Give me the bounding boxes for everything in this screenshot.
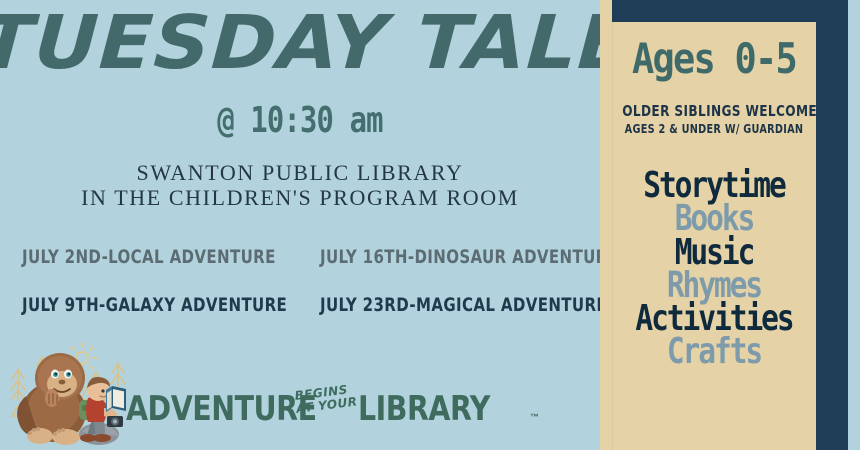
list-item: JULY 2ND-LOCAL ADVENTURE — [22, 248, 276, 267]
left-content-panel: TUESDAY TALES @ 10:30 am SWANTON PUBLIC … — [0, 0, 600, 450]
navy-top-bar — [612, 0, 848, 22]
event-time: @ 10:30 am — [60, 103, 540, 139]
ages-heading: Ages 0-5 — [624, 38, 804, 80]
right-edge-strip — [848, 0, 860, 450]
list-item: JULY 23RD-MAGICAL ADVENTURE — [320, 296, 607, 315]
bigfoot-reading-illustration — [4, 338, 144, 450]
list-item: Crafts — [630, 334, 797, 369]
schedule-list: JULY 2ND-LOCAL ADVENTURE JULY 16TH-DINOS… — [0, 238, 600, 328]
venue-name: SWANTON PUBLIC LIBRARY — [0, 162, 600, 184]
page-title: TUESDAY TALES — [0, 6, 618, 80]
program-logo: ADVENTURE BEGINS AT YOUR LIBRARY ™ — [4, 338, 444, 450]
logo-word-library: LIBRARY — [358, 392, 490, 426]
navy-right-bar — [816, 0, 848, 450]
list-item: JULY 16TH-DINOSAUR ADVENTURE — [320, 248, 618, 267]
activity-list: Storytime Books Music Rhymes Activities … — [612, 168, 816, 368]
guardian-note: AGES 2 & UNDER W/ GUARDIAN — [622, 123, 806, 135]
siblings-note: OLDER SIBLINGS WELCOME — [622, 104, 806, 119]
list-item: JULY 9TH-GALAXY ADVENTURE — [22, 296, 287, 315]
logo-script-tagline: BEGINS AT YOUR — [294, 382, 364, 426]
logo-word-adventure: ADVENTURE — [126, 392, 317, 426]
venue-room: IN THE CHILDREN'S PROGRAM ROOM — [0, 187, 600, 209]
event-poster: TUESDAY TALES @ 10:30 am SWANTON PUBLIC … — [0, 0, 860, 450]
logo-wordmark: ADVENTURE BEGINS AT YOUR LIBRARY ™ — [126, 386, 446, 432]
trademark-symbol: ™ — [530, 412, 539, 422]
